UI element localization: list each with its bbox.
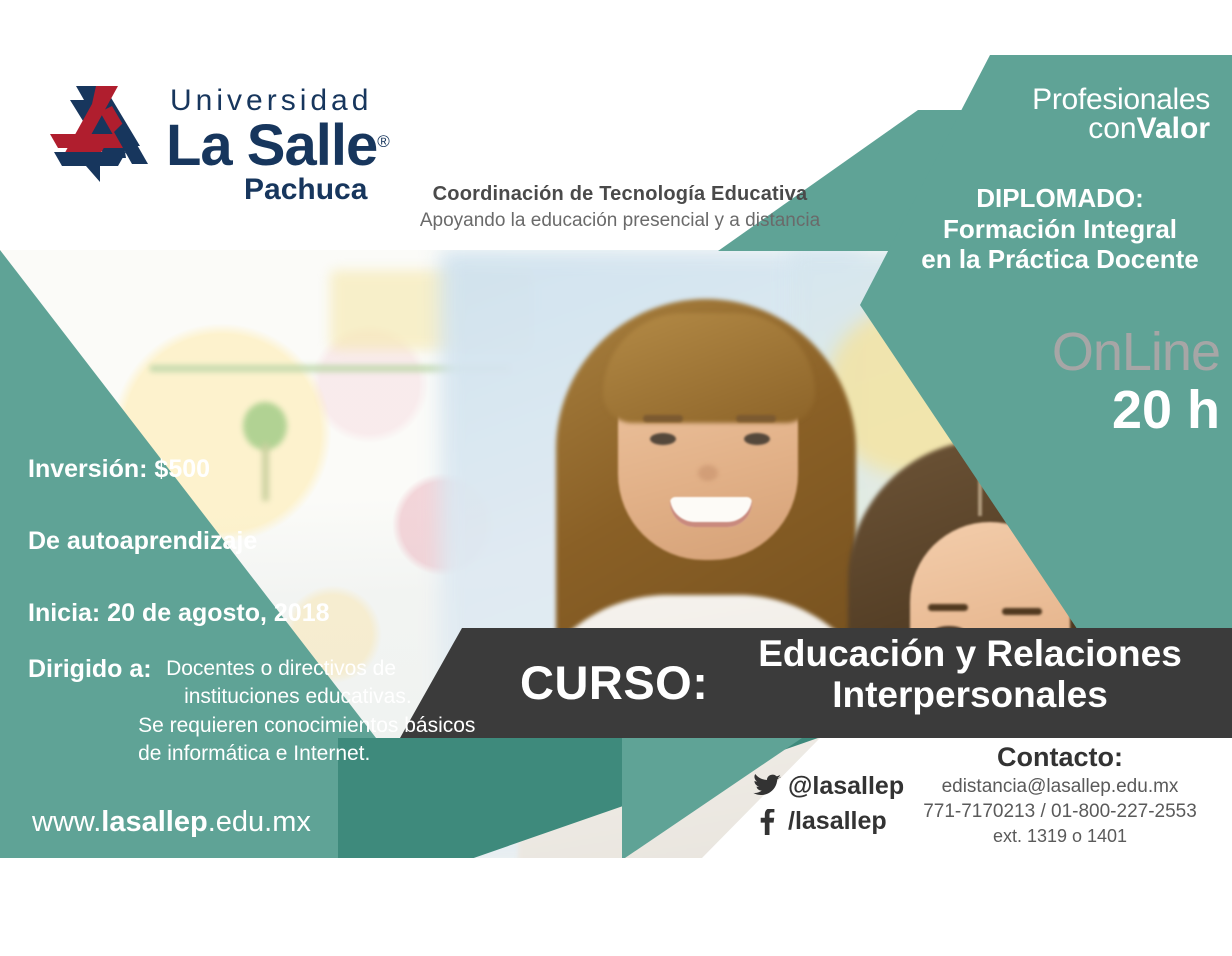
website-url[interactable]: www.lasallep.edu.mx bbox=[32, 806, 311, 839]
course-title: Educación y Relaciones Interpersonales bbox=[720, 633, 1220, 716]
audience-line-4: de informática e Internet. bbox=[138, 740, 496, 768]
facebook-f-icon bbox=[752, 809, 782, 835]
tagline-line-1: Profesionales bbox=[900, 86, 1210, 115]
brand-tagline: Profesionales conValor bbox=[900, 86, 1210, 143]
contact-block: Contacto: edistancia@lasallep.edu.mx 771… bbox=[900, 742, 1220, 847]
tagline-line-2: conValor bbox=[900, 115, 1210, 144]
la-salle-triangle-logo-icon bbox=[40, 82, 156, 190]
course-label: CURSO: bbox=[520, 655, 708, 710]
coordination-title: Coordinación de Tecnología Educativa bbox=[300, 183, 940, 206]
audience-body: Docentes o directivos de instituciones e… bbox=[166, 655, 496, 768]
course-title-line-1: Educación y Relaciones bbox=[720, 633, 1220, 674]
facebook-handle: /lasallep bbox=[788, 807, 887, 836]
tagline-con: con bbox=[1088, 112, 1136, 145]
teacher-eye-left bbox=[650, 433, 676, 445]
modality-hours: 20 h bbox=[900, 383, 1220, 437]
modality-mode: OnLine bbox=[900, 325, 1220, 379]
coordination-block: Coordinación de Tecnología Educativa Apo… bbox=[300, 183, 940, 232]
website-prefix: www. bbox=[32, 806, 101, 838]
contact-email[interactable]: edistancia@lasallep.edu.mx bbox=[900, 776, 1220, 798]
coordination-subtitle: Apoyando la educación presencial y a dis… bbox=[300, 210, 940, 232]
contact-phones: 771-7170213 / 01-800-227-2553 bbox=[900, 801, 1220, 823]
detail-format: De autoaprendizaje bbox=[28, 527, 458, 556]
course-title-line-2: Interpersonales bbox=[720, 674, 1220, 715]
course-details: Inversión: $500 De autoaprendizaje Inici… bbox=[28, 455, 458, 628]
student-brow-right bbox=[1002, 608, 1042, 615]
teacher-brow-left bbox=[643, 415, 683, 422]
modality-block: OnLine 20 h bbox=[900, 325, 1220, 437]
audience-line-1: Docentes o directivos de bbox=[166, 655, 496, 683]
audience-line-3: Se requieren conocimientos básicos bbox=[138, 712, 496, 740]
twitter-handle: @lasallep bbox=[788, 772, 904, 801]
contact-extensions: ext. 1319 o 1401 bbox=[900, 826, 1220, 847]
facebook-row[interactable]: /lasallep bbox=[752, 807, 904, 836]
contact-heading: Contacto: bbox=[900, 742, 1220, 773]
audience-heading: Dirigido a: bbox=[28, 655, 152, 684]
student-brow-left bbox=[928, 604, 968, 611]
teacher-brow-right bbox=[736, 415, 776, 422]
twitter-bird-icon bbox=[752, 774, 782, 800]
teacher-hair-front bbox=[603, 313, 815, 423]
audience-block: Dirigido a: Docentes o directivos de ins… bbox=[28, 655, 498, 768]
detail-start-date: Inicia: 20 de agosto, 2018 bbox=[28, 599, 458, 628]
bottom-white-margin bbox=[0, 858, 1232, 956]
logo-line-universidad: Universidad bbox=[170, 86, 394, 116]
twitter-row[interactable]: @lasallep bbox=[752, 772, 904, 801]
audience-line-2: instituciones educativas. bbox=[184, 683, 496, 711]
program-line-2: Formación Integral bbox=[900, 214, 1220, 245]
teacher-eye-right bbox=[744, 433, 770, 445]
registered-mark: ® bbox=[377, 132, 389, 151]
program-line-1: DIPLOMADO: bbox=[900, 183, 1220, 214]
detail-investment: Inversión: $500 bbox=[28, 455, 458, 484]
website-suffix: .edu.mx bbox=[208, 806, 311, 838]
teacher-smile bbox=[670, 497, 752, 527]
promotional-flyer: Universidad La Salle® Pachuca Coordinaci… bbox=[0, 0, 1232, 956]
teacher-nose bbox=[698, 465, 718, 481]
website-domain: lasallep bbox=[101, 806, 207, 838]
social-links: @lasallep /lasallep bbox=[752, 772, 904, 842]
tagline-valor: Valor bbox=[1137, 112, 1210, 145]
logo-line-lasalle: La Salle® bbox=[166, 118, 394, 173]
program-title: DIPLOMADO: Formación Integral en la Prác… bbox=[900, 183, 1220, 275]
program-line-3: en la Práctica Docente bbox=[900, 244, 1220, 275]
